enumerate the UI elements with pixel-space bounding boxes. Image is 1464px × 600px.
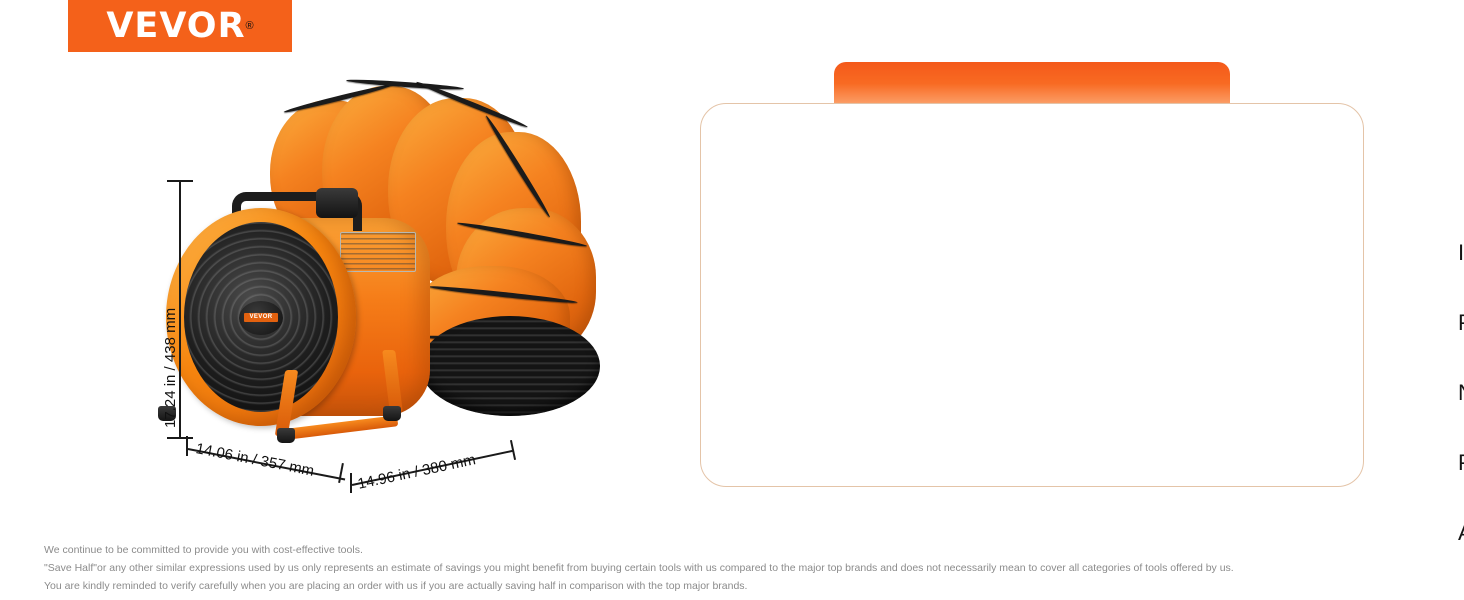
- coiled-power-cord: [420, 316, 600, 416]
- vevor-logo: VEVOR®: [68, 0, 292, 52]
- foot-front: [277, 428, 295, 443]
- spec-item-noise: Noise: 79dB: [1458, 382, 1464, 404]
- footer-line-1: We continue to be committed to provide y…: [44, 543, 1424, 558]
- spec-card: Item Model Number: BT-SHT12A-U(S)5 Power…: [700, 103, 1364, 487]
- dimension-height-label: 17.24 in / 438 mm: [162, 308, 179, 428]
- footer-line-3: You are kindly reminded to verify carefu…: [44, 579, 1424, 594]
- spec-item-model-number: Item Model Number: BT-SHT12A-U(S)5: [1458, 242, 1464, 264]
- foot-rear: [383, 406, 401, 421]
- spec-list: Item Model Number: BT-SHT12A-U(S)5 Power…: [1458, 242, 1464, 544]
- fan-hub-brand-badge: VEVOR: [244, 313, 278, 322]
- spec-item-product-weight: Product Weight: 33.2 lbs (15.1 kg): [1458, 452, 1464, 474]
- footer-disclaimer: We continue to be committed to provide y…: [44, 543, 1424, 597]
- footer-line-2: "Save Half"or any other similar expressi…: [44, 561, 1424, 576]
- product-photo: VEVOR: [140, 70, 660, 500]
- switch-box: [316, 188, 358, 218]
- vevor-logo-text: VEVOR: [106, 9, 245, 44]
- spec-item-accessories: Accessories: User Manual x 1: [1458, 522, 1464, 544]
- leg-cross-bar: [286, 415, 399, 440]
- spec-item-power-cord: Power Cord:5.9ft / 1.8m Length (with 3-P…: [1458, 312, 1464, 334]
- registered-trademark-icon: ®: [246, 20, 254, 32]
- spec-label-sticker: [340, 232, 416, 272]
